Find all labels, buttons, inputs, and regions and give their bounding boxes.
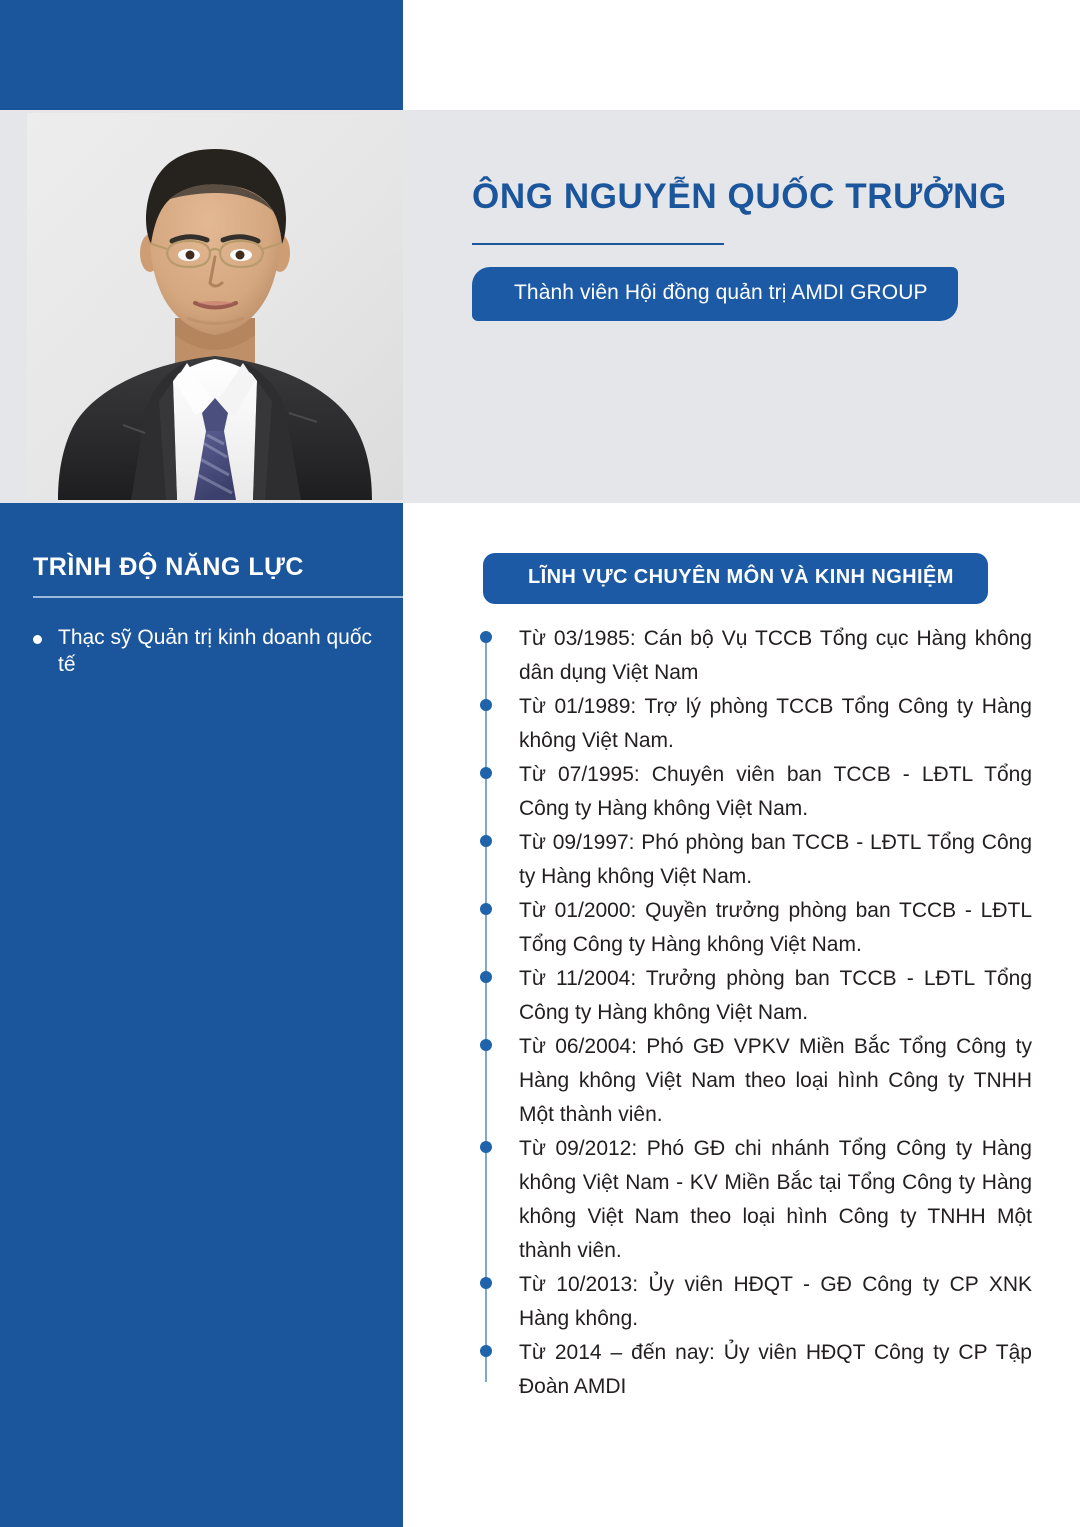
experience-list: Từ 03/1985: Cán bộ Vụ TCCB Tổng cục Hàng… [480, 622, 1032, 1404]
timeline-bullet-icon [480, 903, 492, 915]
list-item: Thạc sỹ Quản trị kinh doanh quốc tế [33, 624, 373, 679]
list-item: Từ 10/2013: Ủy viên HĐQT - GĐ Công ty CP… [480, 1268, 1032, 1336]
experience-text: Từ 10/2013: Ủy viên HĐQT - GĐ Công ty CP… [519, 1268, 1032, 1336]
timeline-bullet-icon [480, 631, 492, 643]
bullet-dot-icon [33, 635, 42, 644]
timeline-bullet-icon [480, 835, 492, 847]
portrait-photo [27, 113, 403, 500]
list-item: Từ 11/2004: Trưởng phòng ban TCCB - LĐTL… [480, 962, 1032, 1030]
experience-heading-badge: LĨNH VỰC CHUYÊN MÔN VÀ KINH NGHIỆM [483, 553, 988, 604]
title-underline [472, 243, 724, 245]
list-item: Từ 07/1995: Chuyên viên ban TCCB - LĐTL … [480, 758, 1032, 826]
profile-page: ÔNG NGUYỄN QUỐC TRƯỞNG Thành viên Hội đồ… [0, 0, 1080, 1527]
timeline-bullet-icon [480, 1345, 492, 1357]
experience-text: Từ 01/1989: Trợ lý phòng TCCB Tổng Công … [519, 690, 1032, 758]
list-item: Từ 01/2000: Quyền trưởng phòng ban TCCB … [480, 894, 1032, 962]
timeline-bullet-icon [480, 971, 492, 983]
experience-text: Từ 11/2004: Trưởng phòng ban TCCB - LĐTL… [519, 962, 1032, 1030]
header-block: ÔNG NGUYỄN QUỐC TRƯỞNG Thành viên Hội đồ… [472, 178, 1032, 321]
experience-text: Từ 06/2004: Phó GĐ VPKV Miền Bắc Tổng Cô… [519, 1030, 1032, 1132]
experience-text: Từ 2014 – đến nay: Ủy viên HĐQT Công ty … [519, 1336, 1032, 1404]
experience-text: Từ 09/2012: Phó GĐ chi nhánh Tổng Công t… [519, 1132, 1032, 1268]
list-item: Từ 01/1989: Trợ lý phòng TCCB Tổng Công … [480, 690, 1032, 758]
page-title: ÔNG NGUYỄN QUỐC TRƯỞNG [472, 178, 1032, 217]
experience-text: Từ 09/1997: Phó phòng ban TCCB - LĐTL Tổ… [519, 826, 1032, 894]
timeline-bullet-icon [480, 699, 492, 711]
timeline-bullet-icon [480, 767, 492, 779]
list-item: Từ 03/1985: Cán bộ Vụ TCCB Tổng cục Hàng… [480, 622, 1032, 690]
list-item: Từ 09/2012: Phó GĐ chi nhánh Tổng Công t… [480, 1132, 1032, 1268]
experience-text: Từ 01/2000: Quyền trưởng phòng ban TCCB … [519, 894, 1032, 962]
role-badge: Thành viên Hội đồng quản trị AMDI GROUP [472, 267, 958, 321]
portrait-illustration [27, 113, 403, 500]
qualifications-list: Thạc sỹ Quản trị kinh doanh quốc tế [33, 624, 373, 679]
qualification-text: Thạc sỹ Quản trị kinh doanh quốc tế [58, 624, 373, 679]
qualifications-section: TRÌNH ĐỘ NĂNG LỰC Thạc sỹ Quản trị kinh … [33, 553, 373, 679]
qualifications-heading: TRÌNH ĐỘ NĂNG LỰC [33, 553, 373, 582]
qualifications-divider [33, 596, 403, 598]
timeline-bullet-icon [480, 1141, 492, 1153]
experience-timeline: Từ 03/1985: Cán bộ Vụ TCCB Tổng cục Hàng… [480, 622, 1032, 1404]
experience-text: Từ 07/1995: Chuyên viên ban TCCB - LĐTL … [519, 758, 1032, 826]
timeline-bullet-icon [480, 1039, 492, 1051]
timeline-bullet-icon [480, 1277, 492, 1289]
list-item: Từ 09/1997: Phó phòng ban TCCB - LĐTL Tổ… [480, 826, 1032, 894]
list-item: Từ 06/2004: Phó GĐ VPKV Miền Bắc Tổng Cô… [480, 1030, 1032, 1132]
experience-text: Từ 03/1985: Cán bộ Vụ TCCB Tổng cục Hàng… [519, 622, 1032, 690]
list-item: Từ 2014 – đến nay: Ủy viên HĐQT Công ty … [480, 1336, 1032, 1404]
